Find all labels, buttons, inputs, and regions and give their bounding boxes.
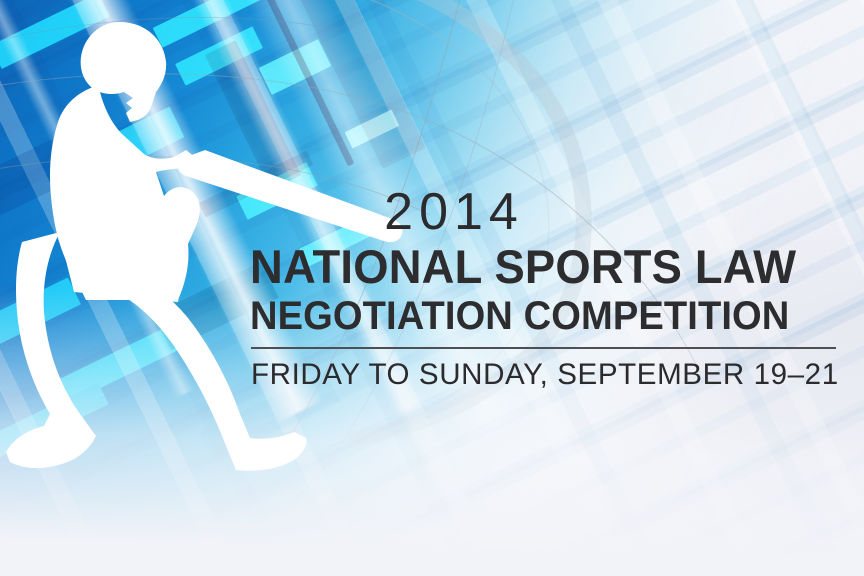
poster-text-block: 2014 NATIONAL SPORTS LAW NEGOTIATION COM… [250, 186, 838, 392]
title-line-2: NEGOTIATION COMPETITION [250, 297, 817, 336]
year-heading: 2014 [250, 186, 838, 238]
poster-canvas: 2014 NATIONAL SPORTS LAW NEGOTIATION COM… [0, 0, 864, 576]
title-line-1: NATIONAL SPORTS LAW [250, 244, 817, 290]
title-divider-rule [251, 347, 836, 349]
event-dates: FRIDAY TO SUNDAY, SEPTEMBER 19–21 [251, 358, 829, 392]
